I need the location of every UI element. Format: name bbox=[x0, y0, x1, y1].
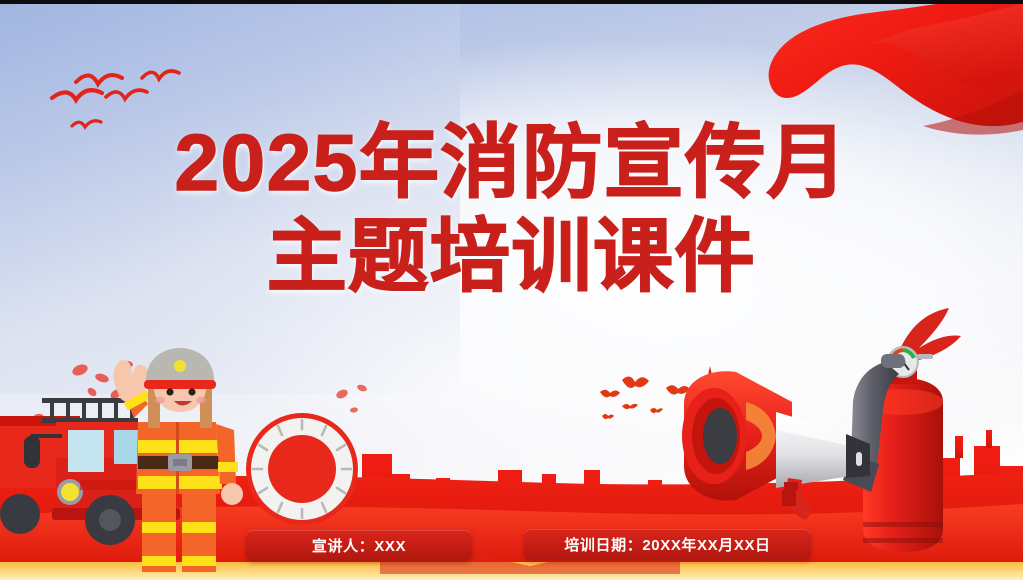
training-date-pill: 培训日期：20XX年XX月XX日 bbox=[524, 529, 811, 560]
waving-flag-icon bbox=[601, 0, 1023, 144]
firefighter-character-icon bbox=[104, 344, 254, 574]
megaphone-icon bbox=[680, 366, 895, 526]
speaker-label-pill: 宣讲人：XXX bbox=[246, 530, 472, 561]
pressure-gauge-ring-icon bbox=[243, 410, 361, 528]
presentation-slide: 2025年消防宣传月 主题培训课件 宣讲人：XXX 培训日期：20XX年XX月X… bbox=[0, 0, 1023, 580]
speaker-label-text: 宣讲人：XXX bbox=[312, 535, 406, 556]
top-black-bar bbox=[0, 0, 1023, 4]
training-date-text: 培训日期：20XX年XX月XX日 bbox=[564, 534, 770, 555]
birds-top-left-icon bbox=[46, 52, 216, 152]
